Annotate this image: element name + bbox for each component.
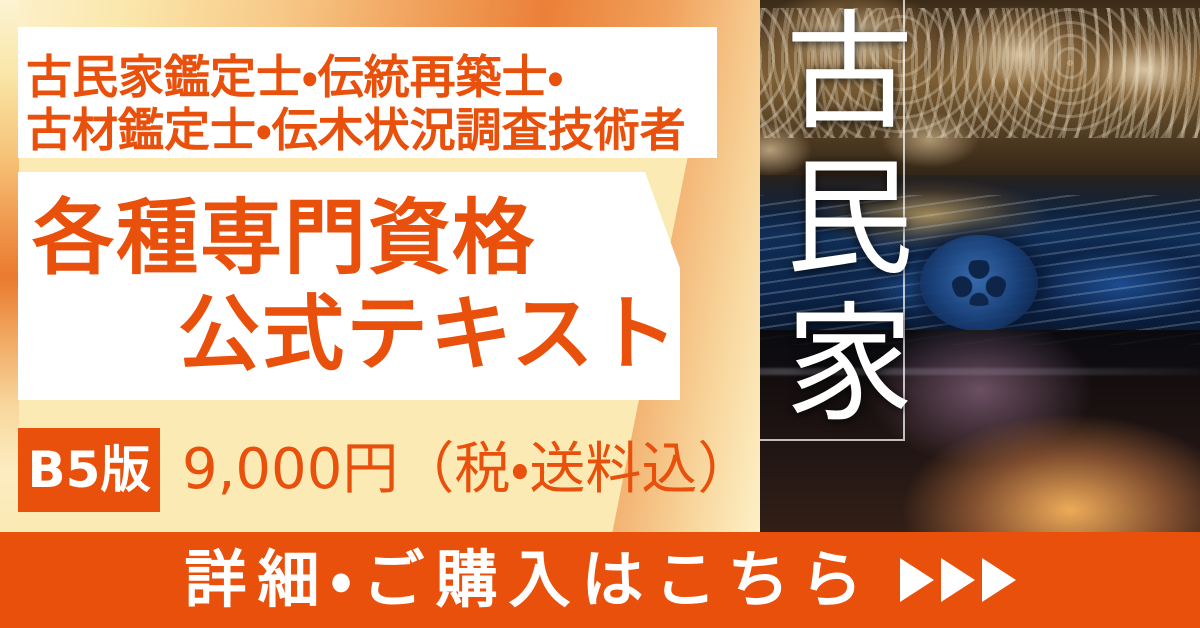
price-row: B5版 9,000円（税・送料込） xyxy=(18,428,753,512)
cta-arrows xyxy=(900,558,1016,602)
cta-bar[interactable]: 詳細・ご購入はこちら xyxy=(0,532,1200,628)
play-arrow-icon xyxy=(941,558,975,602)
headline-line-1: 各種専門資格 xyxy=(32,198,536,280)
play-arrow-icon xyxy=(900,558,934,602)
certification-line-1: 古民家鑑定士・伝統再築士・ xyxy=(26,54,563,100)
certification-line-2: 古材鑑定士・伝木状況調査技術者 xyxy=(26,107,686,153)
play-arrow-icon xyxy=(982,558,1016,602)
price-amount: 9,000円（税・送料込） xyxy=(182,442,753,498)
headline-panel: 各種専門資格 公式テキスト xyxy=(18,172,680,400)
promo-banner: 古民家 伝統構法 古民家活用のための調査と再生の 古民家鑑定士・伝統再築士・ 古… xyxy=(0,0,1200,628)
certifications-panel: 古民家鑑定士・伝統再築士・ 古材鑑定士・伝木状況調査技術者 xyxy=(18,27,717,158)
headline-line-2: 公式テキスト xyxy=(178,294,680,376)
size-badge: B5版 xyxy=(18,428,160,512)
family-crest-medallion xyxy=(920,235,1038,331)
left-edge-gradient-ribbon xyxy=(0,0,19,534)
cta-label: 詳細・ご購入はこちら xyxy=(184,549,873,611)
book-cover-main-title: 古民家 xyxy=(773,4,901,442)
